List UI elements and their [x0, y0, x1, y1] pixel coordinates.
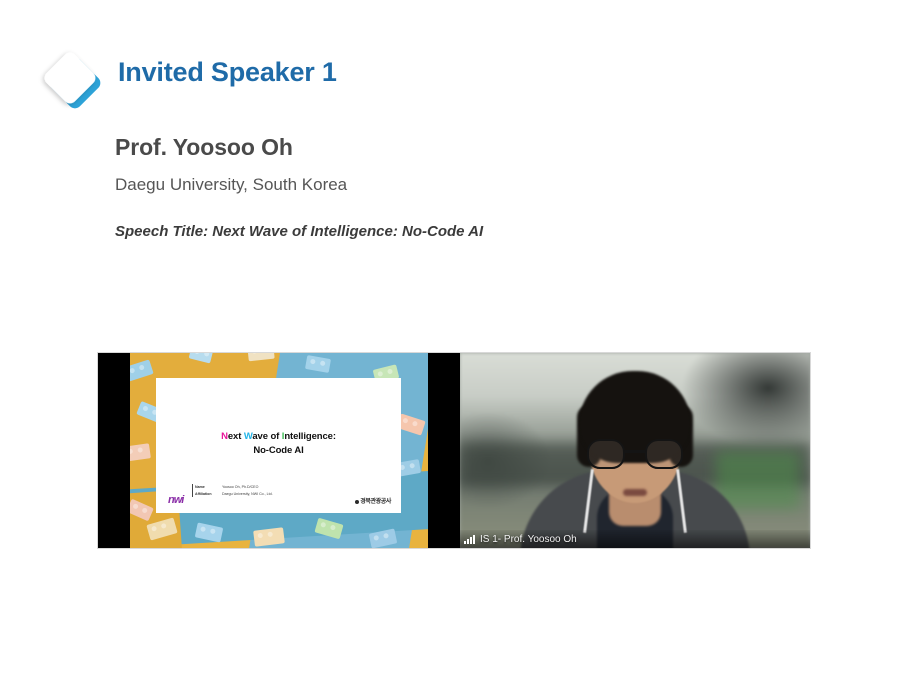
- glasses-icon: [587, 439, 683, 469]
- speaker-portrait: [460, 353, 810, 548]
- shared-slide-content: Next Wave of Intelligence: No-Code AI Na…: [130, 353, 428, 548]
- slide-meta-row: Affiliation Daegu University, NWI Co., L…: [192, 491, 273, 498]
- slide-meta-value: Yoosoo Oh, Ph.D/CEO: [222, 485, 258, 489]
- speaker-affiliation: Daegu University, South Korea: [115, 174, 815, 196]
- video-name-bar: IS 1- Prof. Yoosoo Oh: [460, 530, 810, 548]
- slide-title-card: Next Wave of Intelligence: No-Code AI Na…: [156, 378, 401, 513]
- nwi-logo: nwi: [168, 495, 183, 506]
- signal-bars-icon: [464, 534, 475, 544]
- presentation-media-block: Next Wave of Intelligence: No-Code AI Na…: [98, 353, 810, 548]
- shared-slide-pane: Next Wave of Intelligence: No-Code AI Na…: [98, 353, 460, 548]
- video-participant-label: IS 1- Prof. Yoosoo Oh: [480, 534, 577, 545]
- page-header: Invited Speaker 1: [0, 0, 912, 130]
- speaker-info-block: Prof. Yoosoo Oh Daegu University, South …: [115, 133, 815, 241]
- slide-meta-value: Daegu University, NWI Co., Ltd.: [222, 492, 273, 496]
- webcam-video-pane: IS 1- Prof. Yoosoo Oh: [460, 353, 810, 548]
- slide-heading-line2: No-Code AI: [253, 445, 303, 456]
- page-title: Invited Speaker 1: [118, 57, 337, 88]
- speaker-name: Prof. Yoosoo Oh: [115, 133, 815, 162]
- partner-logo: 경북관광공사: [355, 499, 391, 505]
- slide-meta-key: Name: [192, 484, 221, 491]
- speech-title: Speech Title: Next Wave of Intelligence:…: [115, 222, 815, 242]
- diamond-badge-icon: [36, 44, 104, 112]
- slide-presenter-meta: Name Yoosoo Oh, Ph.D/CEO Affiliation Dae…: [192, 484, 273, 497]
- slide-heading-line1: Next Wave of Intelligence:: [221, 431, 336, 442]
- slide-meta-row: Name Yoosoo Oh, Ph.D/CEO: [192, 484, 273, 491]
- slide-heading: Next Wave of Intelligence: No-Code AI: [156, 430, 401, 458]
- partner-logo-text: 경북관광공사: [360, 499, 391, 505]
- slide-meta-key: Affiliation: [192, 491, 221, 498]
